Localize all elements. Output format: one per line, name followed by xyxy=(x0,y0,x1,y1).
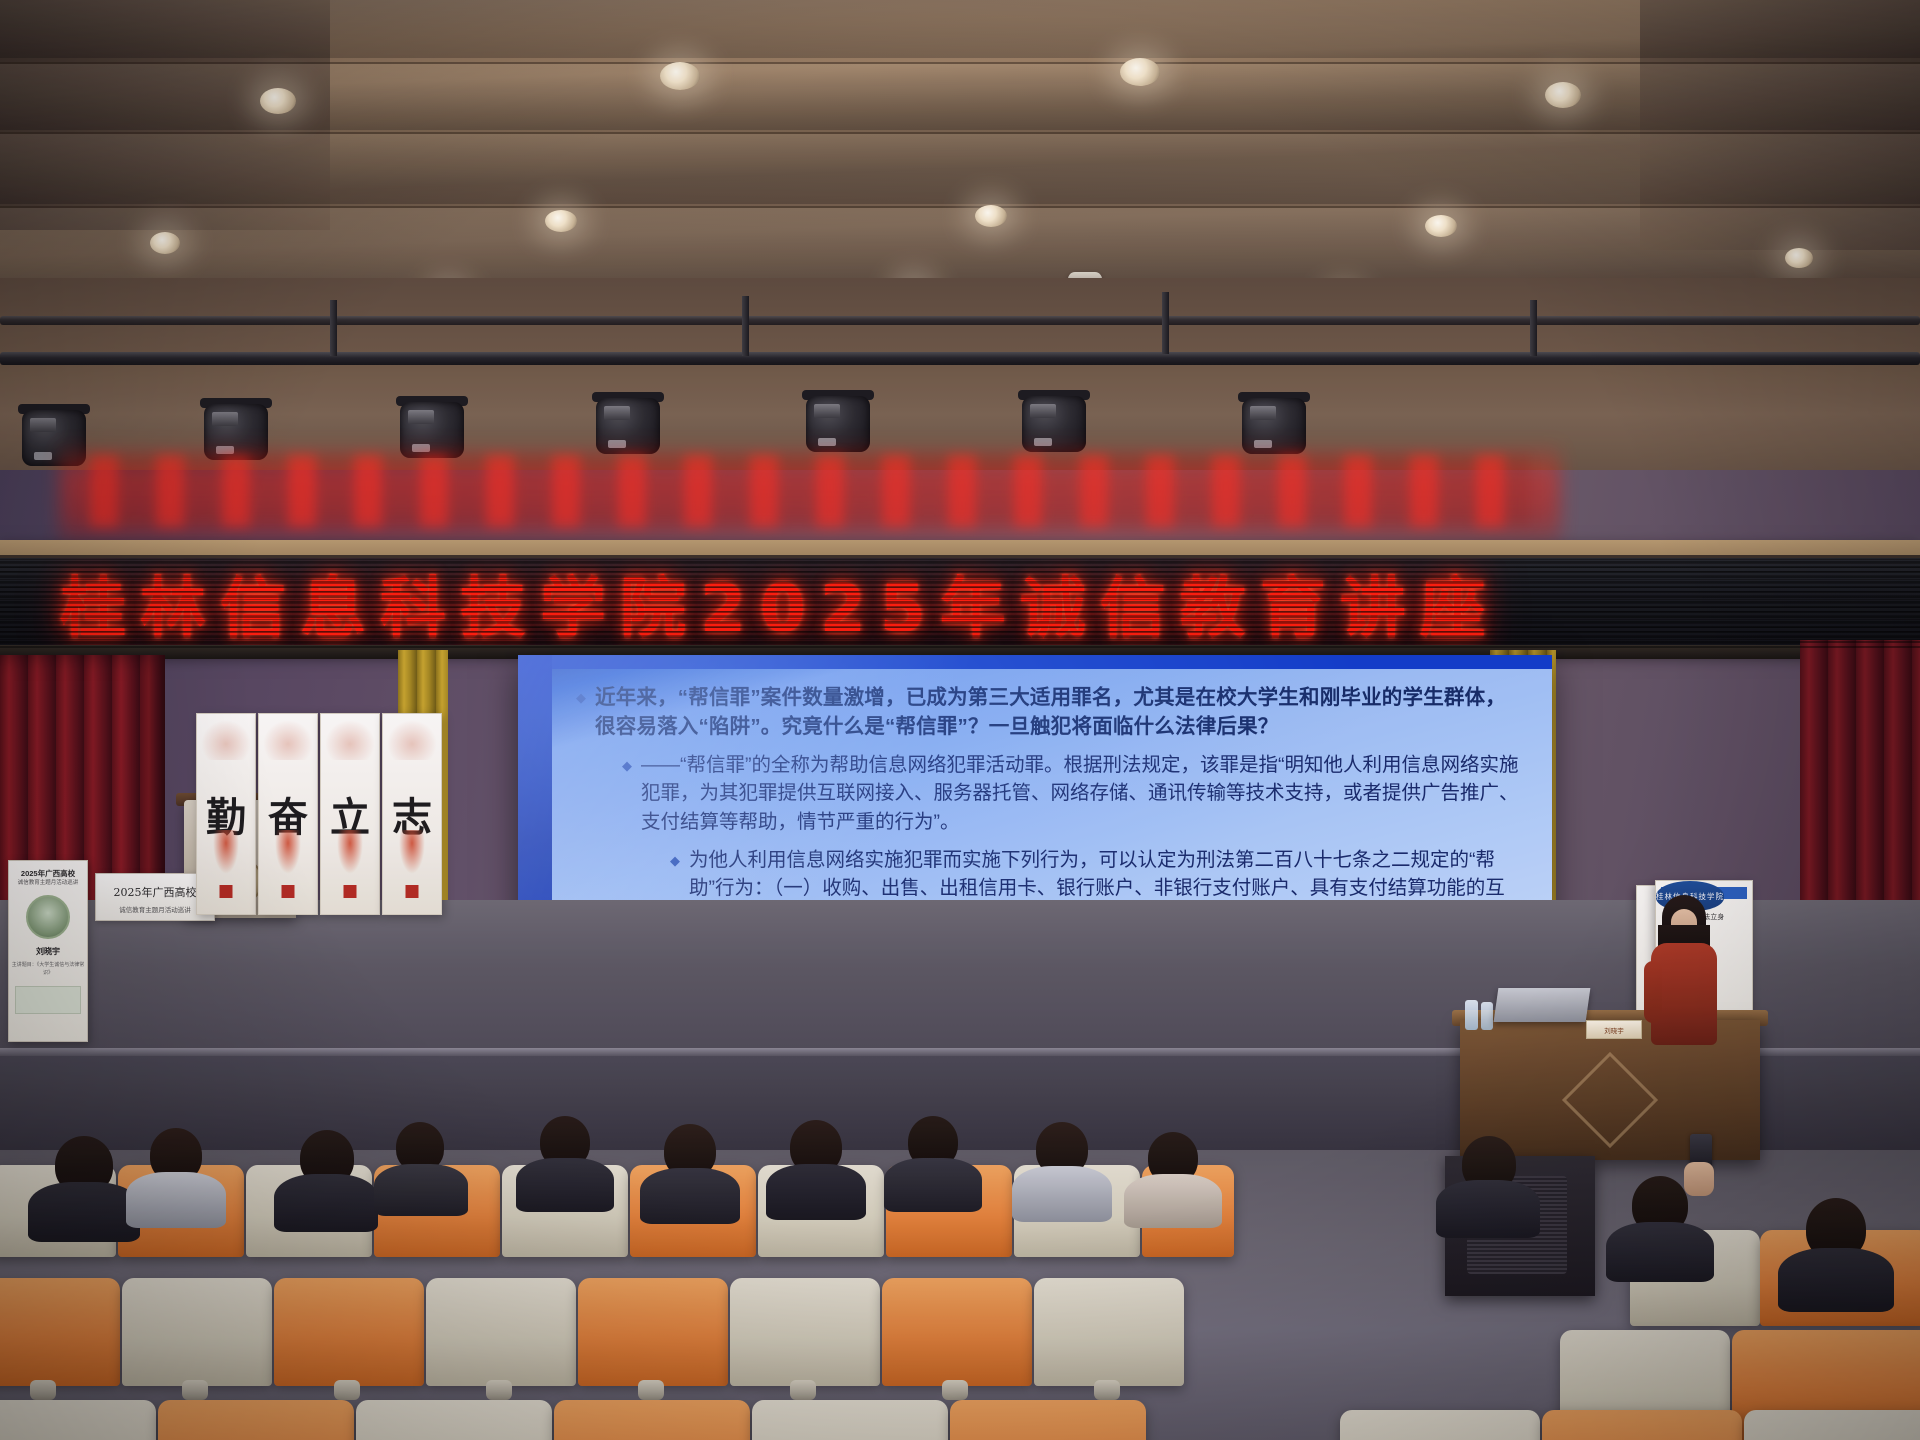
ink-wash-decor xyxy=(325,720,375,760)
audience-shoulder xyxy=(1606,1222,1714,1282)
stage-curtain-right xyxy=(1800,640,1920,940)
presenter xyxy=(1640,895,1726,1045)
led-scanline-overlay xyxy=(0,558,1920,648)
red-figure-decor xyxy=(275,830,301,874)
seal-stamp-icon xyxy=(344,885,357,898)
raised-hand xyxy=(1684,1162,1714,1196)
seat xyxy=(578,1278,728,1386)
audience-shoulder xyxy=(1436,1180,1540,1238)
seat xyxy=(356,1400,552,1440)
water-bottle xyxy=(1481,1002,1493,1030)
audience-shoulder xyxy=(274,1174,378,1232)
slide-bullet-2: ◆ ——“帮信罪”的全称为帮助信息网络犯罪活动罪。根据刑法规定，该罪是指“明知他… xyxy=(622,751,1522,836)
led-banner: 桂林信息科技学院2025年诚信教育讲座 xyxy=(0,555,1920,651)
seat xyxy=(730,1278,880,1386)
led-glow-reflection-bars xyxy=(90,455,1530,527)
audience-shoulder xyxy=(374,1164,468,1216)
seat xyxy=(1542,1410,1742,1440)
calligraphy-banner-qin: 勤 xyxy=(196,713,256,915)
speaker-poster: 2025年广西高校 诚信教育主题月活动巡讲 刘晓宇 主讲题目：《大学生诚信与法律… xyxy=(8,860,88,1042)
calligraphy-banner-fen: 奋 xyxy=(258,713,318,915)
calligraphy-banner-zhi: 志 xyxy=(382,713,442,915)
speaker-poster-title: 2025年广西高校 xyxy=(9,868,87,879)
audience-shoulder xyxy=(766,1164,866,1220)
audience-shoulder xyxy=(126,1172,226,1228)
slide-bullet-2-text: ——“帮信罪”的全称为帮助信息网络犯罪活动罪。根据刑法规定，该罪是指“明知他人利… xyxy=(641,751,1522,836)
seat xyxy=(1744,1410,1920,1440)
audience-seating xyxy=(0,1110,1920,1440)
ink-wash-decor xyxy=(201,720,251,760)
seat xyxy=(426,1278,576,1386)
bullet-marker-icon: ◆ xyxy=(670,853,680,869)
seat xyxy=(1340,1410,1540,1440)
seat xyxy=(752,1400,948,1440)
water-bottle xyxy=(1465,1000,1478,1030)
audience-shoulder xyxy=(640,1168,740,1224)
seat xyxy=(554,1400,750,1440)
speaker-portrait xyxy=(26,895,70,939)
audience-shoulder xyxy=(516,1158,614,1212)
audience-shoulder xyxy=(884,1158,982,1212)
audience-shoulder xyxy=(28,1182,140,1242)
seat xyxy=(0,1400,156,1440)
seat xyxy=(122,1278,272,1386)
seat xyxy=(274,1278,424,1386)
ink-wash-decor xyxy=(263,720,313,760)
red-figure-decor xyxy=(337,830,363,874)
lectern-name-card: 刘晓宇 xyxy=(1586,1020,1642,1039)
laptop xyxy=(1494,988,1591,1022)
seal-stamp-icon xyxy=(282,885,295,898)
bullet-marker-icon: ◆ xyxy=(622,758,632,774)
seat xyxy=(0,1278,120,1386)
speaker-poster-subtitle: 诚信教育主题月活动巡讲 xyxy=(9,879,87,887)
red-figure-decor xyxy=(213,830,239,874)
calligraphy-banner-li: 立 xyxy=(320,713,380,915)
seat xyxy=(950,1400,1146,1440)
slide-top-accent xyxy=(518,655,1552,669)
speaker-name: 刘晓宇 xyxy=(9,946,87,957)
speaker-topic: 主讲题目：《大学生诚信与法律常识》 xyxy=(9,961,87,977)
audience-shoulder xyxy=(1012,1166,1112,1222)
poster-decor-bar xyxy=(15,986,81,1014)
seat xyxy=(158,1400,354,1440)
seal-stamp-icon xyxy=(220,885,233,898)
red-figure-decor xyxy=(399,830,425,874)
seal-stamp-icon xyxy=(406,885,419,898)
audience-shoulder xyxy=(1124,1174,1222,1228)
presenter-arm xyxy=(1644,961,1662,1023)
audience-shoulder xyxy=(1778,1248,1894,1312)
ink-wash-decor xyxy=(387,720,437,760)
slide-bullet-1: ◆ 近年来，“帮信罪”案件数量激增，已成为第三大适用罪名，尤其是在校大学生和刚毕… xyxy=(576,683,1522,741)
seat xyxy=(882,1278,1032,1386)
seat xyxy=(1034,1278,1184,1386)
slide-bullet-1-text: 近年来，“帮信罪”案件数量激增，已成为第三大适用罪名，尤其是在校大学生和刚毕业的… xyxy=(595,683,1522,741)
lecture-hall-photo: 桂林信息科技学院2025年诚信教育讲座 ◆ 近年来，“帮信罪”案件数量激增，已成… xyxy=(0,0,1920,1440)
bullet-marker-icon: ◆ xyxy=(576,690,586,706)
